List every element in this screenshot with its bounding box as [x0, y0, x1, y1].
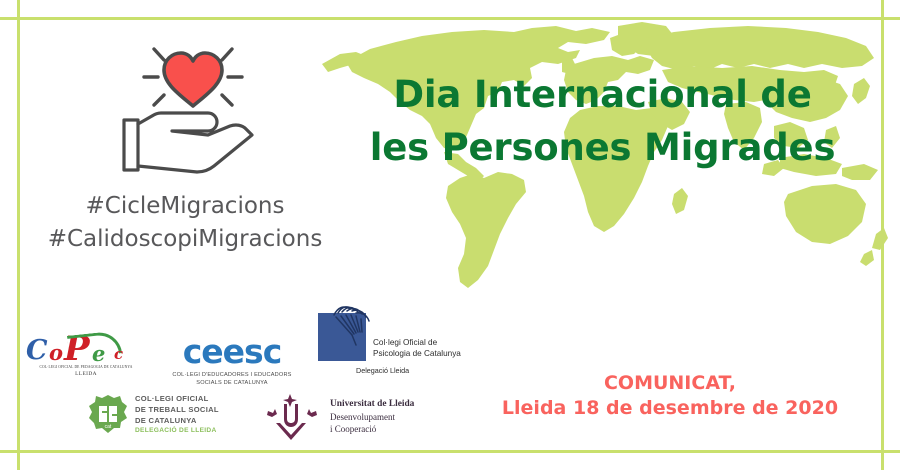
comunicat-place-date: Lleida 18 de desembre de 2020 [470, 396, 870, 421]
treball-social-line-2: DE TREBALL SOCIAL [135, 404, 219, 415]
title-line-2: les Persones Migrades [330, 121, 875, 174]
ceesc-wordmark: ceesc [172, 335, 292, 368]
svg-text:cat: cat [105, 424, 112, 430]
logo-universitat-lleida: Universitat de Lleida Desenvolupament i … [262, 393, 414, 441]
comunicat-label: COMUNICAT, [470, 371, 870, 396]
logo-copec: C o P e c COL·LEGI OFICIAL DE PEDAGOGIA … [22, 329, 150, 379]
treball-social-emblem: cat [88, 394, 128, 434]
treball-social-delegation: DELEGACIÓ DE LLEIDA [135, 426, 219, 436]
title-line-1: Dia Internacional de [330, 68, 875, 121]
udl-line-3: i Cooperació [330, 423, 414, 435]
copc-name-line-1: Col·legi Oficial de [373, 337, 461, 348]
copc-name: Col·legi Oficial de Psicologia de Catalu… [373, 337, 461, 361]
udl-line-1: Universitat de Lleida [330, 398, 414, 411]
ceesc-caption-line-2: SOCIALS DE CATALUNYA [172, 379, 292, 387]
logo-copc: Col·legi Oficial de Psicologia de Catalu… [318, 313, 463, 375]
ceesc-caption: COL·LEGI D'EDUCADORES I EDUCADORS SOCIAL… [172, 371, 292, 388]
copc-emblem [318, 313, 366, 361]
treball-social-line-1: COL·LEGI OFICIAL [135, 393, 219, 404]
logo-treball-social: cat COL·LEGI OFICIAL DE TREBALL SOCIAL D… [88, 393, 219, 436]
copec-wordmark: C o P e c [22, 329, 150, 365]
hashtag-calidoscopi-migracions: #CalidoscopiMigracions [20, 223, 350, 256]
copc-delegation: Delegació Lleida [356, 366, 463, 375]
poster-canvas: Dia Internacional de les Persones Migrad… [0, 0, 900, 470]
copec-letter-c2: c [114, 345, 123, 363]
partner-logos: C o P e c COL·LEGI OFICIAL DE PEDAGOGIA … [0, 305, 470, 450]
treball-social-name: COL·LEGI OFICIAL DE TREBALL SOCIAL DE CA… [135, 393, 219, 436]
hashtag-group: #CicleMigracions #CalidoscopiMigracions [20, 190, 350, 255]
poster-title: Dia Internacional de les Persones Migrad… [330, 68, 875, 175]
hand-holding-heart-icon [108, 32, 278, 187]
logo-ceesc: ceesc COL·LEGI D'EDUCADORES I EDUCADORS … [172, 335, 292, 388]
copec-letter-o: o [49, 340, 63, 365]
copec-letter-e: e [92, 341, 105, 366]
udl-emblem [262, 393, 322, 441]
hashtag-cicle-migracions: #CicleMigracions [20, 190, 350, 223]
copec-letter-c1: C [26, 335, 48, 366]
copec-subcaption: LLEIDA [22, 370, 150, 378]
udl-line-2: Desenvolupament [330, 411, 414, 423]
frame-line-bottom [0, 450, 900, 453]
ceesc-caption-line-1: COL·LEGI D'EDUCADORES I EDUCADORS [172, 371, 292, 379]
copc-name-line-2: Psicologia de Catalunya [373, 348, 461, 359]
udl-name: Universitat de Lleida Desenvolupament i … [330, 398, 414, 436]
comunicat-block: COMUNICAT, Lleida 18 de desembre de 2020 [470, 371, 870, 422]
treball-social-line-3: DE CATALUNYA [135, 415, 219, 426]
